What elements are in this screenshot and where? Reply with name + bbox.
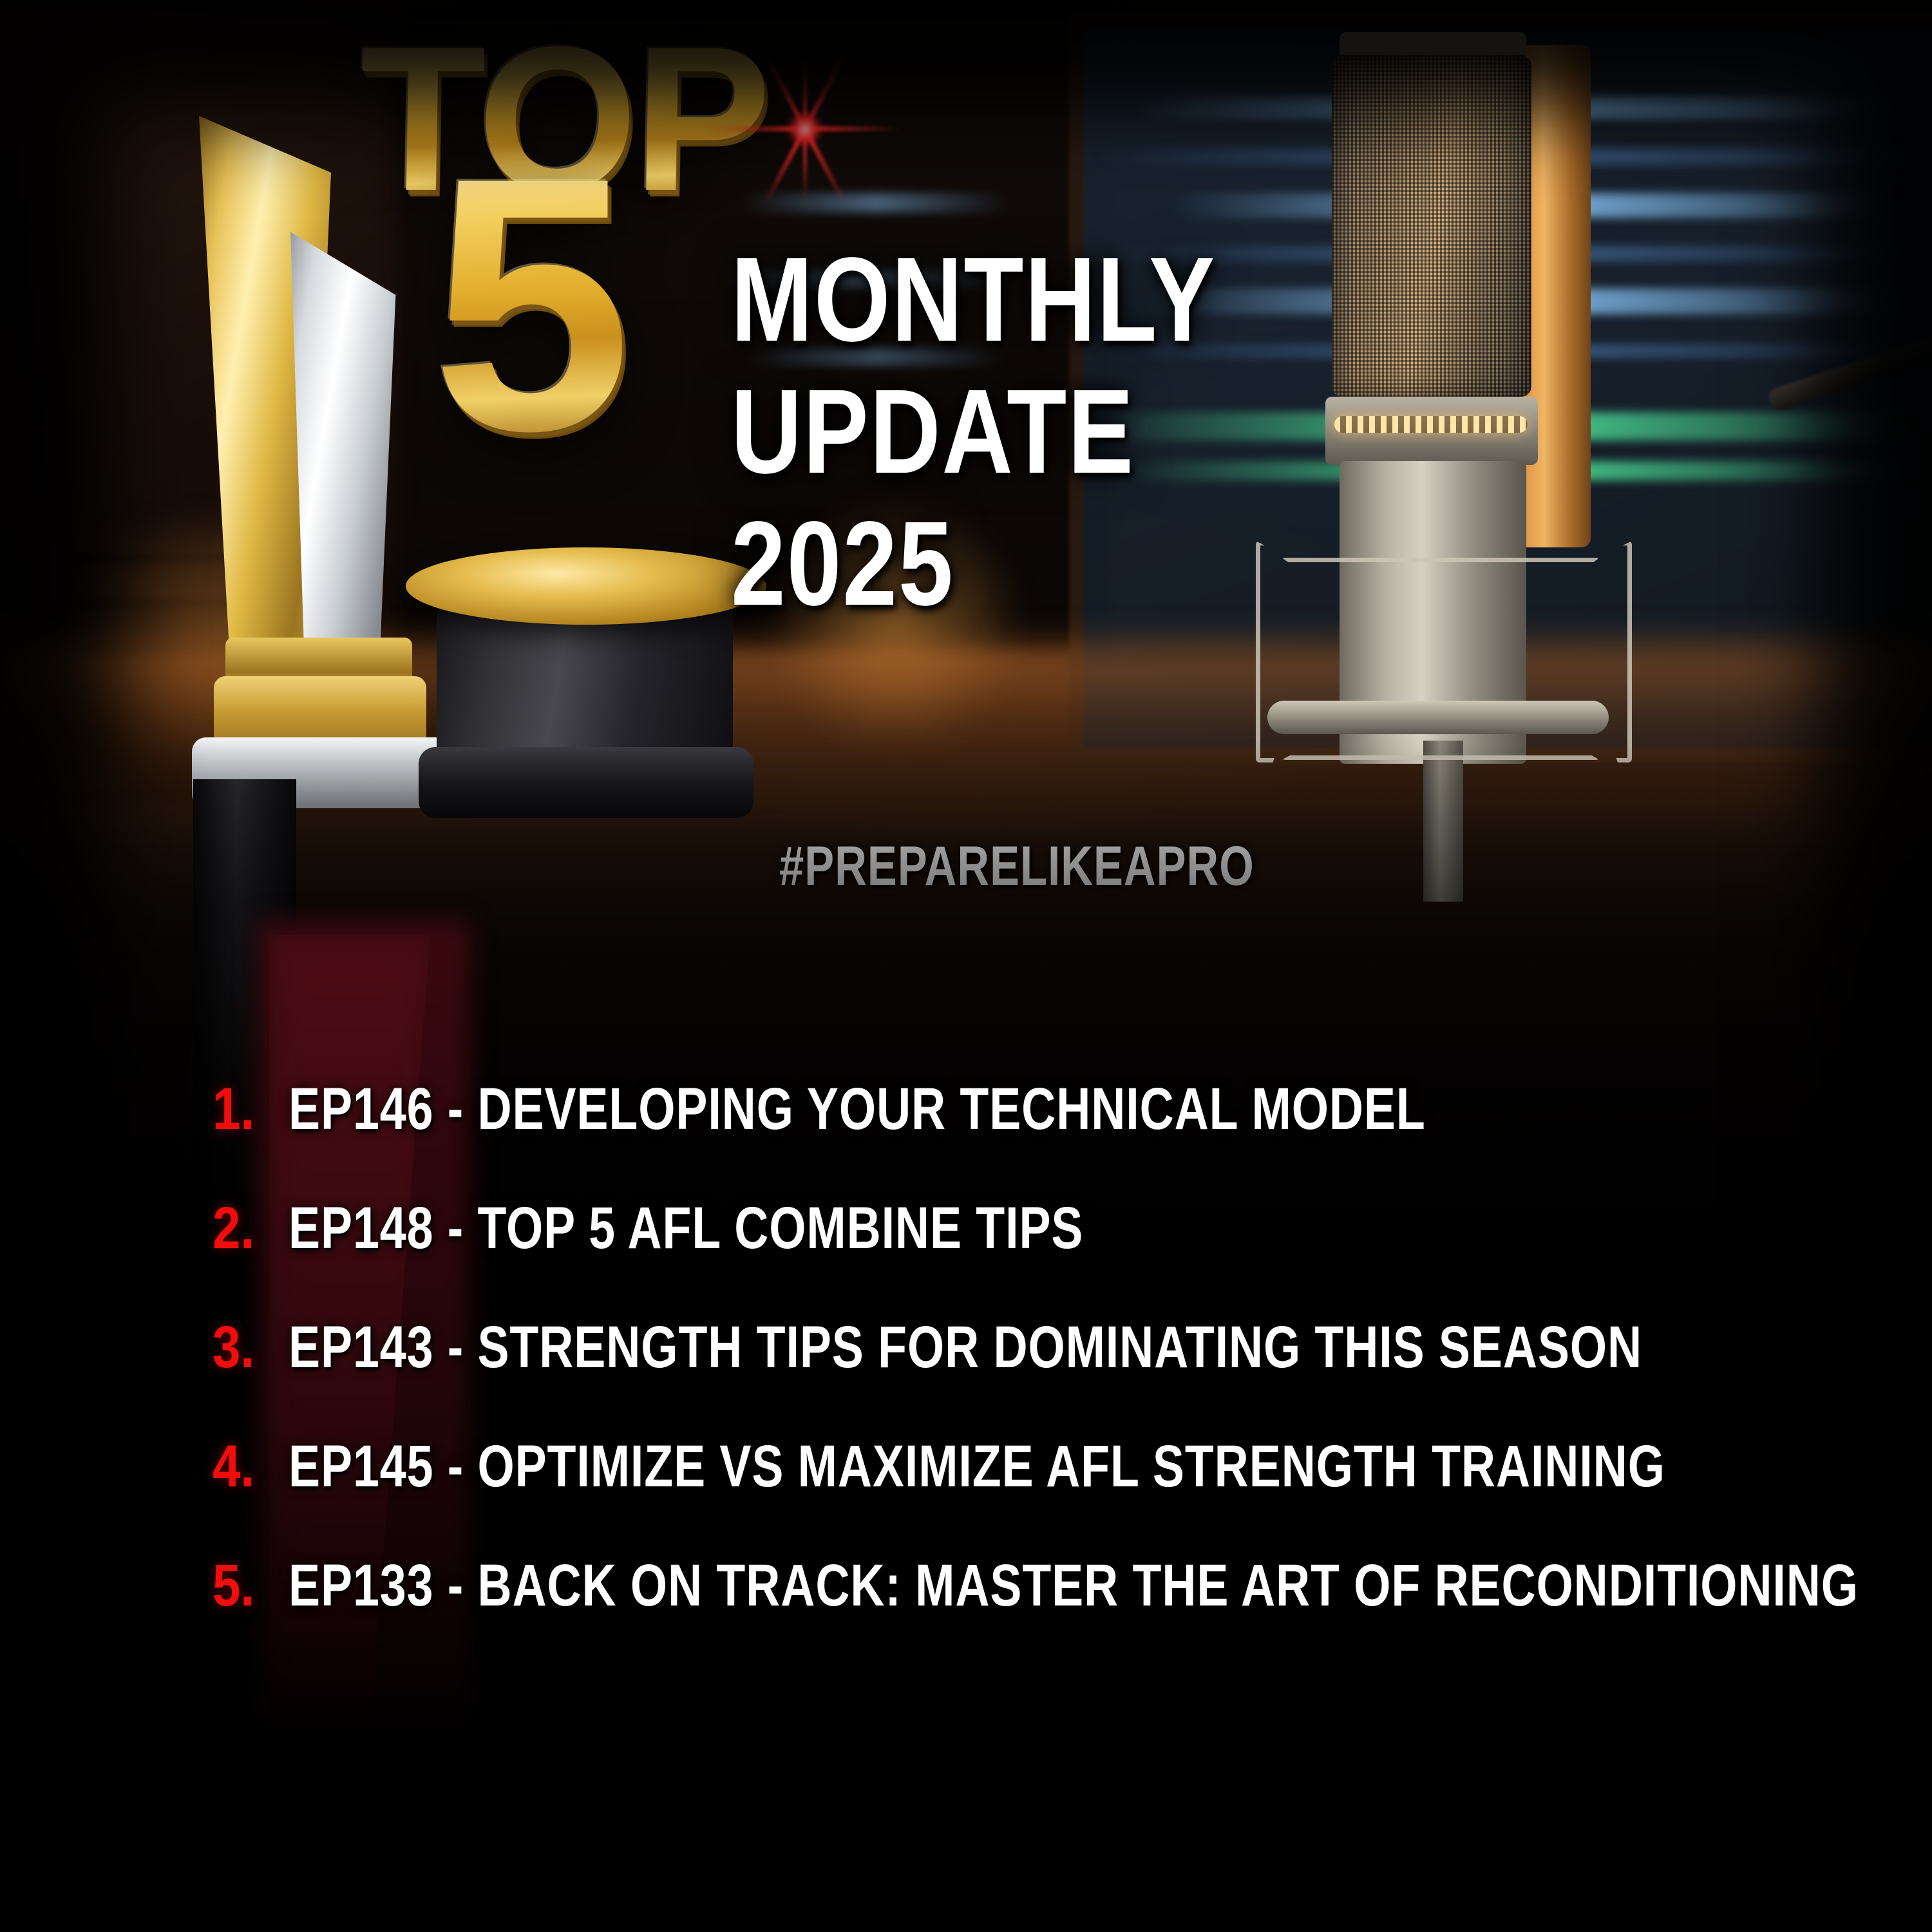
list-item-rank: 1. [213,1075,277,1143]
list-item-rank: 3. [213,1314,277,1381]
list-item-title: EP145 - OPTIMIZE VS MAXIMIZE AFL STRENGT… [289,1433,1665,1501]
poster-canvas: TOP 5 MONTHLY UPDATE 2025 #PREPARELIKEAP… [0,0,1932,1932]
list-item: 3. EP143 - STRENGTH TIPS FOR DOMINATING … [213,1314,1887,1381]
list-item-rank: 2. [213,1195,277,1262]
list-item: 4. EP145 - OPTIMIZE VS MAXIMIZE AFL STRE… [213,1433,1887,1501]
list-item-title: EP148 - TOP 5 AFL COMBINE TIPS [289,1195,1083,1262]
list-item: 2. EP148 - TOP 5 AFL COMBINE TIPS [213,1195,1887,1262]
list-item: 1. EP146 - DEVELOPING YOUR TECHNICAL MOD… [213,1075,1887,1143]
list-item-rank: 4. [213,1433,277,1501]
list-item-rank: 5. [213,1552,277,1620]
list-item-title: EP133 - BACK ON TRACK: MASTER THE ART OF… [289,1552,1859,1620]
list-item: 5. EP133 - BACK ON TRACK: MASTER THE ART… [213,1552,1887,1620]
episode-list: 1. EP146 - DEVELOPING YOUR TECHNICAL MOD… [213,1075,1887,1671]
list-item-title: EP143 - STRENGTH TIPS FOR DOMINATING THI… [289,1314,1642,1381]
list-item-title: EP146 - DEVELOPING YOUR TECHNICAL MODEL [289,1075,1426,1143]
